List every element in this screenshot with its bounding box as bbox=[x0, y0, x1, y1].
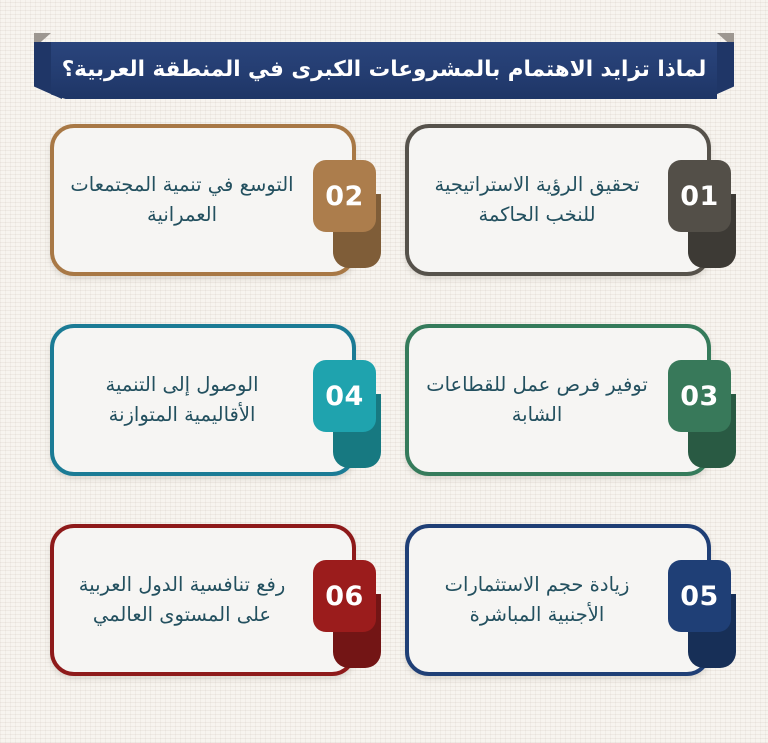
infographic-page: لماذا تزايد الاهتمام بالمشروعات الكبرى ف… bbox=[0, 0, 768, 743]
card-number-badge-wrap: 03 bbox=[668, 360, 736, 468]
card-number-badge: 05 bbox=[668, 560, 731, 632]
reason-card-05[interactable]: زيادة حجم الاستثمارات الأجنبية المباشرة0… bbox=[405, 524, 711, 676]
reason-card-text: تحقيق الرؤية الاستراتيجية للنخب الحاكمة bbox=[409, 128, 707, 272]
ribbon-body: لماذا تزايد الاهتمام بالمشروعات الكبرى ف… bbox=[51, 42, 717, 99]
card-number-badge: 06 bbox=[313, 560, 376, 632]
card-number-badge-wrap: 05 bbox=[668, 560, 736, 668]
reason-card-text: رفع تنافسية الدول العربية على المستوى ال… bbox=[54, 528, 352, 672]
page-title: لماذا تزايد الاهتمام بالمشروعات الكبرى ف… bbox=[62, 57, 707, 84]
reason-card-06[interactable]: رفع تنافسية الدول العربية على المستوى ال… bbox=[50, 524, 356, 676]
card-number-badge: 04 bbox=[313, 360, 376, 432]
reason-card-01[interactable]: تحقيق الرؤية الاستراتيجية للنخب الحاكمة0… bbox=[405, 124, 711, 276]
reason-card-03[interactable]: توفير فرص عمل للقطاعات الشابة03 bbox=[405, 324, 711, 476]
card-number-badge: 01 bbox=[668, 160, 731, 232]
card-number-badge-wrap: 02 bbox=[313, 160, 381, 268]
reason-card-text: زيادة حجم الاستثمارات الأجنبية المباشرة bbox=[409, 528, 707, 672]
reason-card-text: التوسع في تنمية المجتمعات العمرانية bbox=[54, 128, 352, 272]
reason-card-04[interactable]: الوصول إلى التنمية الأقاليمية المتوازنة0… bbox=[50, 324, 356, 476]
card-number-badge: 03 bbox=[668, 360, 731, 432]
card-row: زيادة حجم الاستثمارات الأجنبية المباشرة0… bbox=[0, 524, 768, 724]
card-row: تحقيق الرؤية الاستراتيجية للنخب الحاكمة0… bbox=[0, 124, 768, 324]
reason-card-text: توفير فرص عمل للقطاعات الشابة bbox=[409, 328, 707, 472]
card-grid: تحقيق الرؤية الاستراتيجية للنخب الحاكمة0… bbox=[0, 124, 768, 724]
reason-card-text: الوصول إلى التنمية الأقاليمية المتوازنة bbox=[54, 328, 352, 472]
card-row: توفير فرص عمل للقطاعات الشابة03الوصول إل… bbox=[0, 324, 768, 524]
reason-card-02[interactable]: التوسع في تنمية المجتمعات العمرانية02 bbox=[50, 124, 356, 276]
card-number-badge-wrap: 04 bbox=[313, 360, 381, 468]
card-number-badge: 02 bbox=[313, 160, 376, 232]
card-number-badge-wrap: 01 bbox=[668, 160, 736, 268]
card-number-badge-wrap: 06 bbox=[313, 560, 381, 668]
title-banner: لماذا تزايد الاهتمام بالمشروعات الكبرى ف… bbox=[34, 33, 734, 99]
